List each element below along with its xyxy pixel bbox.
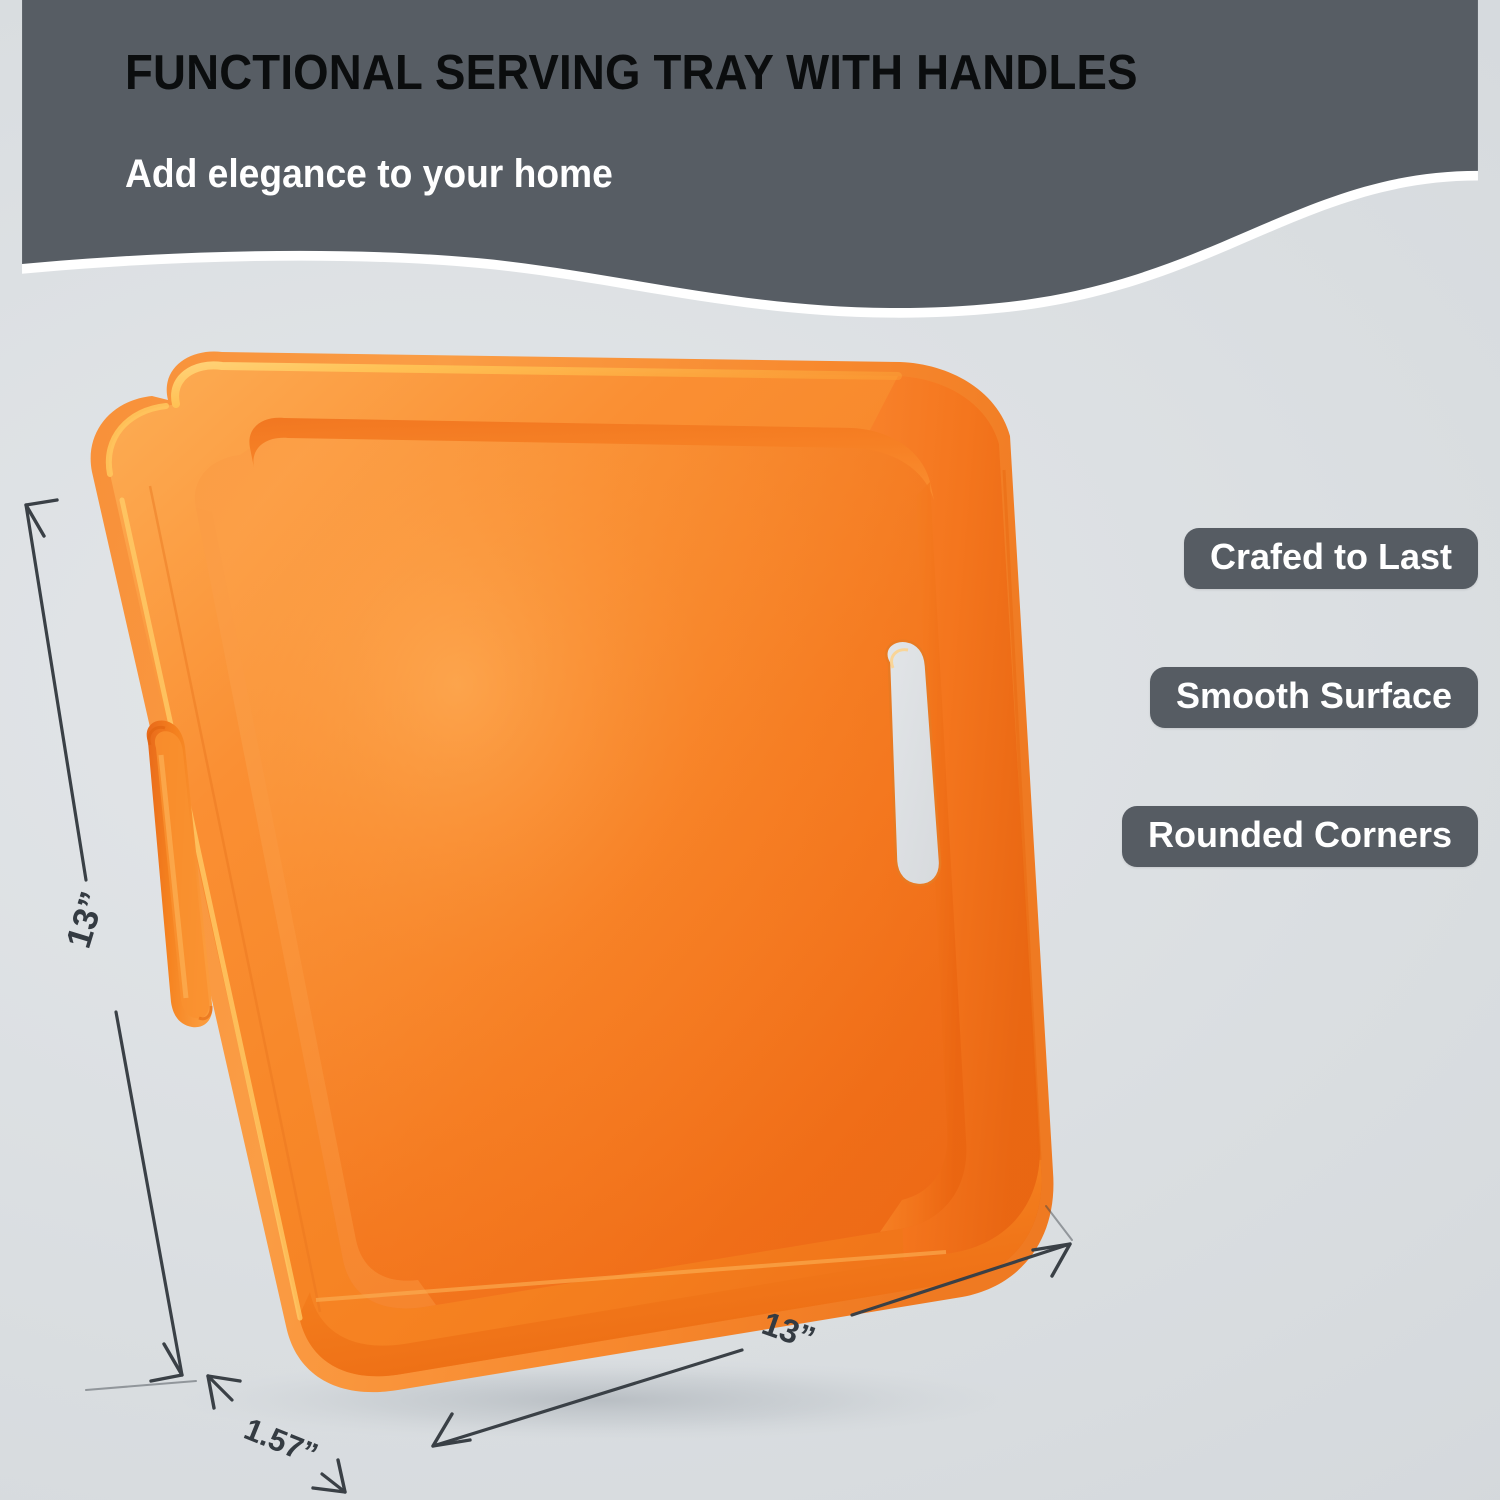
feature-badge-crafted-to-last[interactable]: Crafed to Last bbox=[1184, 528, 1478, 589]
feature-badge-smooth-surface[interactable]: Smooth Surface bbox=[1150, 667, 1478, 728]
infographic-canvas: FUNCTIONAL SERVING TRAY WITH HANDLES Add… bbox=[0, 0, 1500, 1500]
feature-badge-list: Crafed to Last Smooth Surface Rounded Co… bbox=[1038, 528, 1478, 867]
page-subtitle: Add elegance to your home bbox=[125, 152, 613, 197]
product-shadow bbox=[180, 1358, 1020, 1442]
page-title: FUNCTIONAL SERVING TRAY WITH HANDLES bbox=[125, 45, 1138, 101]
feature-badge-rounded-corners[interactable]: Rounded Corners bbox=[1122, 806, 1478, 867]
